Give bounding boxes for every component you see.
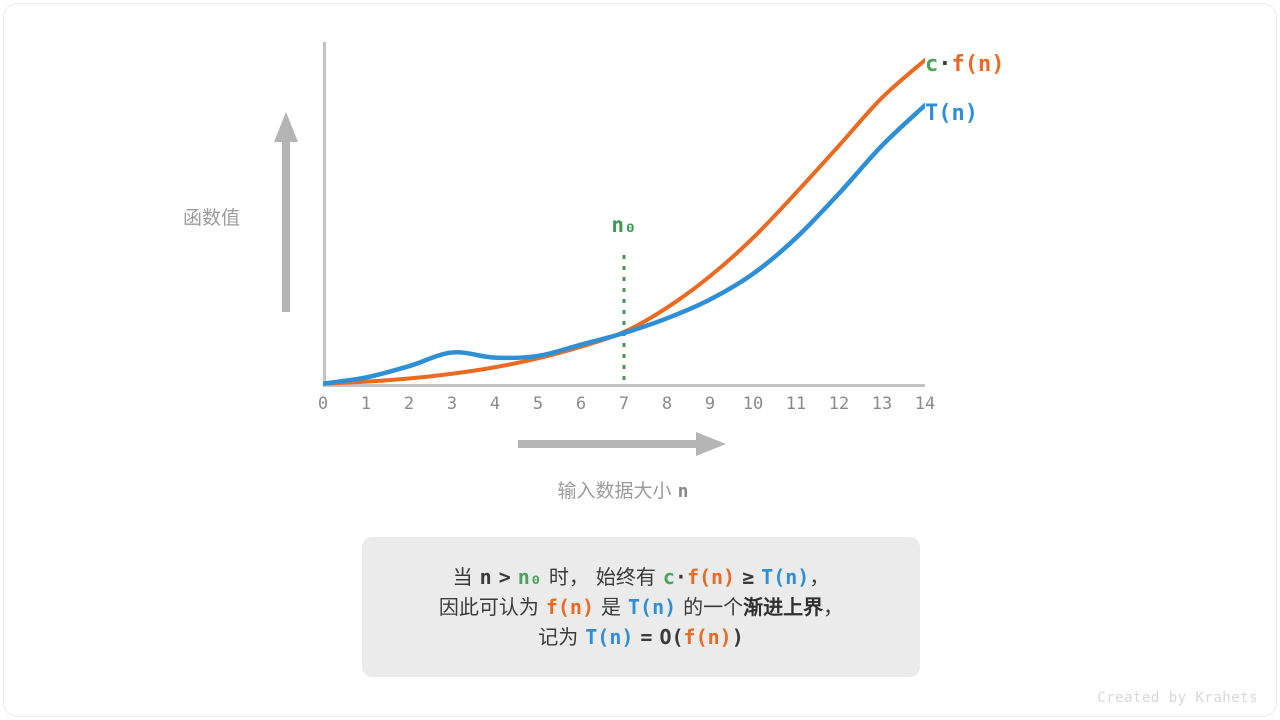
caption-l2-fn: f(n) (546, 595, 594, 619)
chart-canvas: 01234567891011121314 n₀ c·f(n) T(n) 函数值 … (0, 0, 1280, 720)
x-axis-title: 输入数据大小 n (558, 476, 689, 503)
caption-l1-always: 始终有 (596, 565, 656, 589)
x-tick-label: 3 (447, 394, 457, 414)
caption-l1-when: 当 (453, 565, 473, 589)
caption-l1-tn: T(n) (761, 565, 809, 589)
caption-l2-of-a: 的一个 (683, 595, 743, 619)
x-tick-label: 11 (786, 394, 806, 414)
x-tick-label: 13 (872, 394, 892, 414)
series-label-c-f-n: c·f(n) (925, 52, 1004, 77)
series-label-fn: f(n) (952, 52, 1005, 77)
caption-l2-upper-bound: 渐进上界 (743, 595, 823, 619)
caption-l3-bigo-close: ) (732, 625, 744, 649)
caption-l1-ge: ≥ (742, 565, 754, 589)
x-axis-title-var: n (678, 481, 689, 502)
caption-l3-tn: T(n) (585, 625, 633, 649)
caption-l1-c: c (663, 565, 675, 589)
caption-l1-comma: ， (809, 565, 829, 589)
x-tick-label: 0 (318, 394, 328, 414)
caption-line-3: 记为T(n)=O(f(n)) (538, 626, 744, 649)
caption-l3-eq: = (640, 625, 652, 649)
x-tick-label: 5 (533, 394, 543, 414)
x-axis-arrow-icon (518, 432, 726, 456)
curve-t-n (323, 105, 925, 383)
x-tick-label: 6 (576, 394, 586, 414)
caption-l1-n: n (480, 565, 492, 589)
caption-l3-fn: f(n) (684, 625, 732, 649)
caption-l1-shi: 时， (549, 565, 589, 589)
caption-l1-gt: > (499, 565, 511, 589)
caption-l2-tn: T(n) (628, 595, 676, 619)
series-label-dot: · (938, 52, 951, 77)
caption-line-2: 因此可认为f(n)是T(n)的一个渐进上界， (439, 596, 843, 619)
y-axis-arrow-icon (272, 112, 300, 312)
y-axis-title: 函数值 (183, 203, 240, 230)
series-label-c: c (925, 52, 938, 77)
x-tick-label: 8 (662, 394, 672, 414)
x-tick-label: 14 (915, 394, 935, 414)
caption-l3-bigo-open: O( (659, 625, 683, 649)
x-tick-label: 4 (490, 394, 500, 414)
x-tick-label: 7 (619, 394, 629, 414)
caption-box: 当n>n₀时，始终有c·f(n)≥T(n)， 因此可认为f(n)是T(n)的一个… (362, 537, 920, 677)
caption-l1-dot: · (675, 565, 687, 589)
x-tick-label: 2 (404, 394, 414, 414)
n0-marker-label: n₀ (611, 213, 636, 237)
caption-l1-fn: f(n) (687, 565, 735, 589)
caption-l2-comma: ， (823, 595, 843, 619)
x-tick-label: 12 (829, 394, 849, 414)
caption-l2-therefore: 因此可认为 (439, 595, 539, 619)
x-tick-label: 1 (361, 394, 371, 414)
x-axis-ticks: 01234567891011121314 (323, 394, 925, 422)
x-tick-label: 10 (743, 394, 763, 414)
x-tick-label: 9 (705, 394, 715, 414)
caption-l3-denote: 记为 (538, 625, 578, 649)
caption-l1-n0: n₀ (518, 565, 542, 589)
x-axis-title-cn: 输入数据大小 (558, 480, 672, 502)
series-label-t-n: T(n) (925, 101, 978, 126)
caption-l2-is: 是 (601, 595, 621, 619)
caption-line-1: 当n>n₀时，始终有c·f(n)≥T(n)， (453, 566, 830, 589)
watermark: Created by Krahets (1097, 690, 1258, 706)
